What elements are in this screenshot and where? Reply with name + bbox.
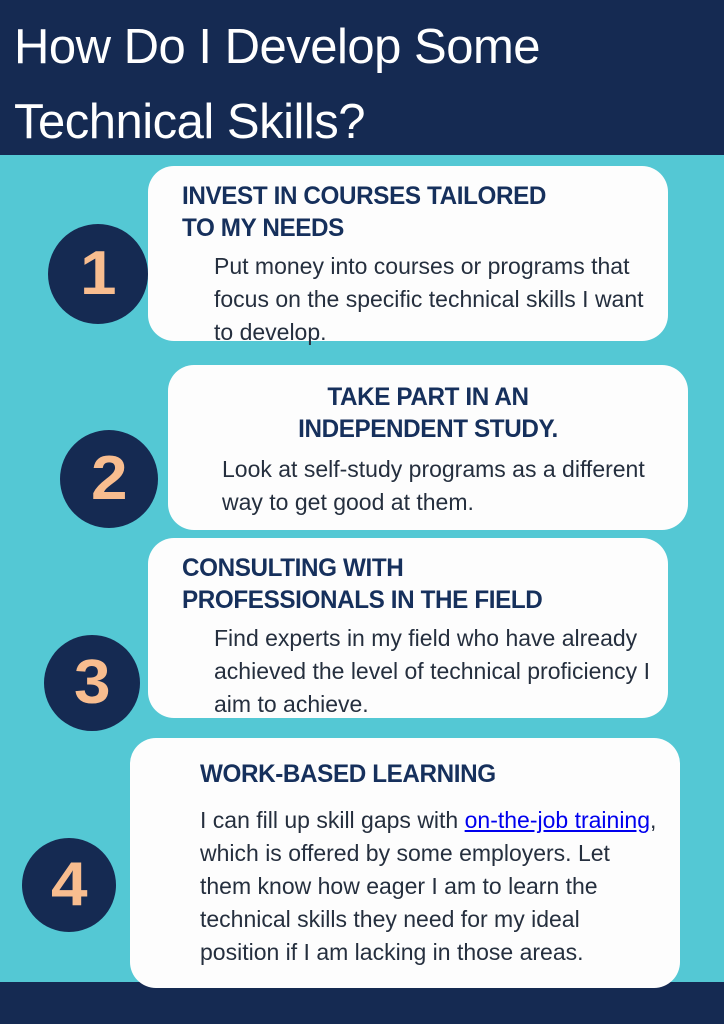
step-card-2-body: Look at self-study programs as a differe… xyxy=(190,453,666,519)
step-card-3-body-text: Find experts in my field who have alread… xyxy=(214,625,650,717)
step-card-4: WORK-BASED LEARNING I can fill up skill … xyxy=(130,738,680,988)
step-card-4-body-text-before: I can fill up skill gaps with xyxy=(200,807,465,833)
header-banner: How Do I Develop Some Technical Skills? xyxy=(0,0,724,155)
step-card-1-heading: INVEST IN COURSES TAILORED TO MY NEEDS xyxy=(182,180,640,244)
footer-bar xyxy=(0,982,724,1024)
step-number-badge-1: 1 xyxy=(48,224,148,324)
step-card-1-body: Put money into courses or programs that … xyxy=(182,250,654,349)
step-number-badge-3: 3 xyxy=(44,635,140,731)
step-card-1: INVEST IN COURSES TAILORED TO MY NEEDS P… xyxy=(148,166,668,341)
step-card-2-content: TAKE PART IN AN INDEPENDENT STUDY. Look … xyxy=(168,365,688,519)
page-title: How Do I Develop Some Technical Skills? xyxy=(14,10,706,160)
on-the-job-training-link[interactable]: on-the-job training xyxy=(465,807,650,833)
step-number-label-3: 3 xyxy=(74,652,111,714)
step-number-badge-2: 2 xyxy=(60,430,158,528)
step-number-label-4: 4 xyxy=(51,854,88,916)
step-card-1-content: INVEST IN COURSES TAILORED TO MY NEEDS P… xyxy=(148,166,668,349)
step-card-4-content: WORK-BASED LEARNING I can fill up skill … xyxy=(130,738,680,969)
step-number-badge-4: 4 xyxy=(22,838,116,932)
step-card-2: TAKE PART IN AN INDEPENDENT STUDY. Look … xyxy=(168,365,688,530)
step-card-2-heading: TAKE PART IN AN INDEPENDENT STUDY. xyxy=(197,381,659,445)
step-card-4-body: I can fill up skill gaps with on-the-job… xyxy=(200,804,658,969)
infographic-canvas: How Do I Develop Some Technical Skills? … xyxy=(0,0,724,1024)
step-card-1-body-text: Put money into courses or programs that … xyxy=(214,253,644,345)
step-card-3: CONSULTING WITH PROFESSIONALS IN THE FIE… xyxy=(148,538,668,718)
step-number-label-2: 2 xyxy=(91,448,128,510)
step-card-3-content: CONSULTING WITH PROFESSIONALS IN THE FIE… xyxy=(148,538,668,721)
step-card-3-body: Find experts in my field who have alread… xyxy=(182,622,654,721)
step-card-2-body-text: Look at self-study programs as a differe… xyxy=(222,456,645,515)
step-number-label-1: 1 xyxy=(80,243,117,305)
step-card-3-heading: CONSULTING WITH PROFESSIONALS IN THE FIE… xyxy=(182,552,640,616)
step-card-4-heading: WORK-BASED LEARNING xyxy=(200,758,644,790)
